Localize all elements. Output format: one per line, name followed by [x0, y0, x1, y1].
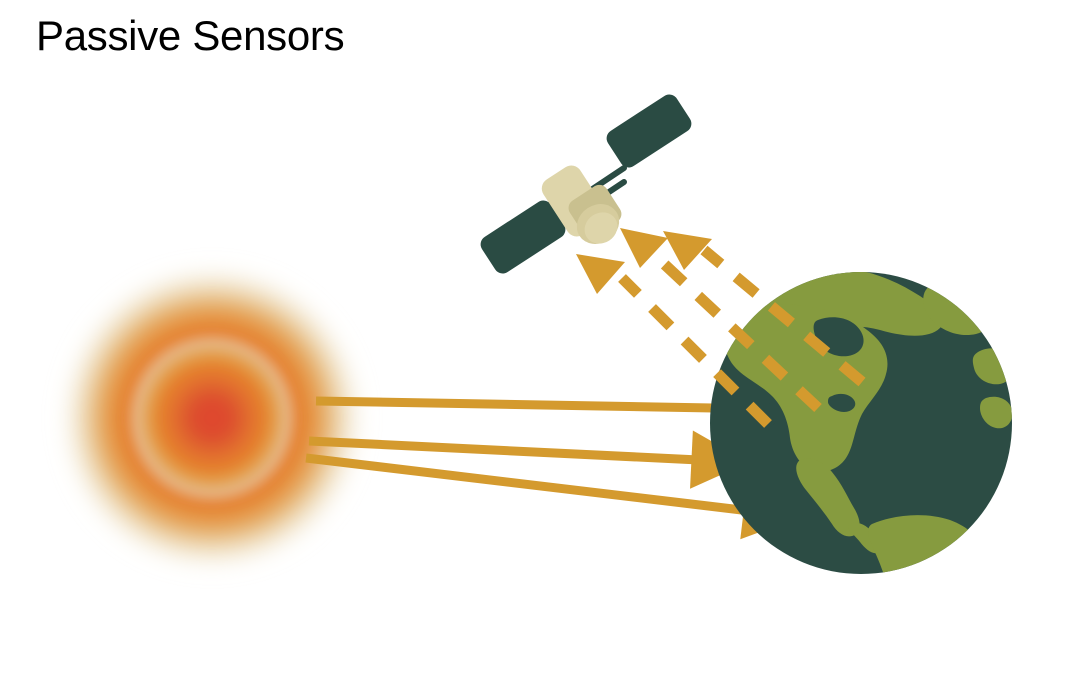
sun-core: [126, 332, 298, 504]
sun: [62, 268, 362, 568]
solar-ray-1: [316, 401, 768, 409]
passive-sensors-scene: [0, 0, 1072, 676]
satellite-solar-panel-right: [603, 91, 695, 171]
diagram-canvas: Passive Sensors: [0, 0, 1072, 676]
land-south-america: [868, 515, 988, 622]
reflected-arrowhead-1: [576, 254, 625, 294]
satellite: [477, 91, 695, 277]
solar-ray-2: [309, 441, 740, 462]
earth-globe: [710, 268, 1013, 623]
reflected-arrowhead-2: [620, 228, 668, 268]
